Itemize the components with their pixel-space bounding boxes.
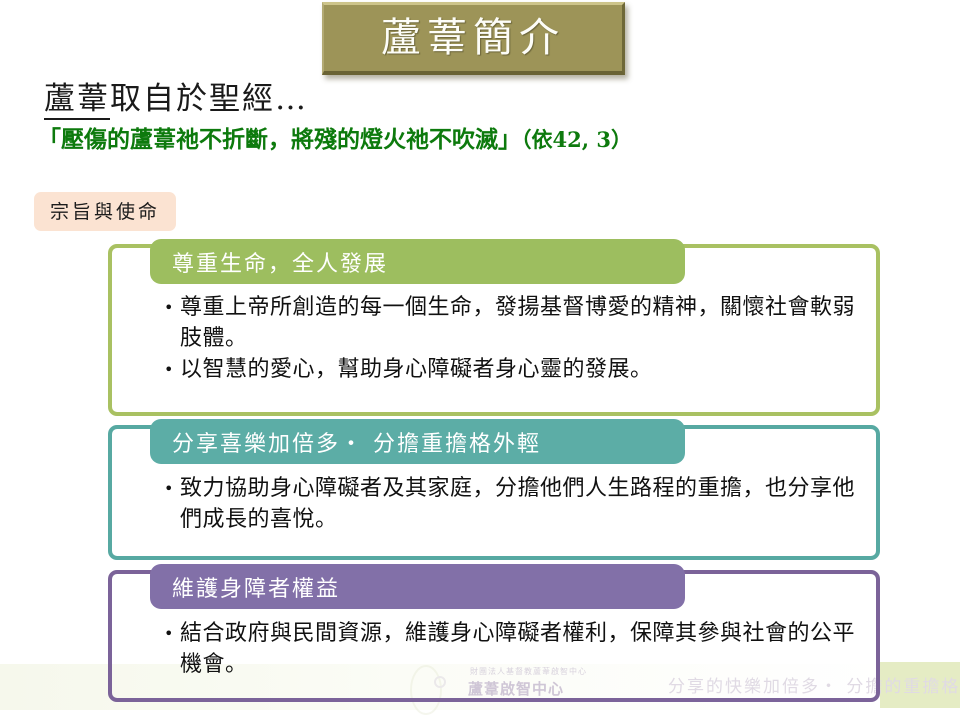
bullet-icon: •: [164, 292, 180, 323]
mission-card-3: 維護身障者權益 • 結合政府與民間資源，維護身心障礙者權利，保障其參與社會的公平…: [108, 570, 880, 702]
list-item: • 致力協助身心障礙者及其家庭，分擔他們人生路程的重擔，也分享他們成長的喜悅。: [164, 473, 864, 535]
bullet-icon: •: [164, 618, 180, 649]
scripture-heading-rest: 取自於聖經…: [110, 81, 308, 117]
mission-card-1: 尊重生命，全人發展 • 尊重上帝所創造的每一個生命，發揚基督博愛的精神，關懷社會…: [108, 244, 880, 416]
list-item: • 以智慧的愛心，幫助身心障礙者身心靈的發展。: [164, 354, 864, 385]
mission-card-2-body: • 致力協助身心障礙者及其家庭，分擔他們人生路程的重擔，也分享他們成長的喜悅。: [164, 473, 864, 535]
mission-card-2-header-label: 分享喜樂加倍多‧ 分擔重擔格外輕: [150, 426, 541, 458]
scripture-quote: 「壓傷的蘆葦祂不折斷，將殘的燈火祂不吹滅」（依42, 3）: [38, 120, 632, 154]
mission-card-2: 分享喜樂加倍多‧ 分擔重擔格外輕 • 致力協助身心障礙者及其家庭，分擔他們人生路…: [108, 425, 880, 560]
slide-canvas: 財團法人基督教蘆葦啟智中心 蘆葦啟智中心 分享的快樂加倍多‧ 分擔的重擔格外輕 …: [0, 0, 960, 720]
slide-title-plaque: 蘆葦簡介: [322, 2, 625, 75]
mission-card-1-bullet-2: 以智慧的愛心，幫助身心障礙者身心靈的發展。: [180, 354, 864, 385]
mission-card-3-body: • 結合政府與民間資源，維護身心障礙者權利，保障其參與社會的公平機會。: [164, 618, 864, 680]
bullet-icon: •: [164, 473, 180, 504]
section-label-mission: 宗旨與使命: [34, 192, 176, 231]
mission-card-3-header-label: 維護身障者權益: [150, 571, 340, 603]
mission-card-2-header: 分享喜樂加倍多‧ 分擔重擔格外輕: [150, 419, 685, 464]
mission-card-1-body: • 尊重上帝所創造的每一個生命，發揚基督博愛的精神，關懷社會軟弱肢體。 • 以智…: [164, 292, 864, 385]
scripture-reference: （依42, 3）: [521, 127, 632, 152]
mission-card-1-header-label: 尊重生命，全人發展: [150, 246, 388, 278]
mission-card-3-bullet-1: 結合政府與民間資源，維護身心障礙者權利，保障其參與社會的公平機會。: [180, 618, 864, 680]
scripture-heading: 蘆葦取自於聖經…: [44, 73, 308, 118]
page-title: 蘆葦簡介: [381, 18, 565, 58]
mission-card-1-header: 尊重生命，全人發展: [150, 239, 685, 284]
bullet-icon: •: [164, 354, 180, 385]
list-item: • 尊重上帝所創造的每一個生命，發揚基督博愛的精神，關懷社會軟弱肢體。: [164, 292, 864, 354]
scripture-quote-text: 「壓傷的蘆葦祂不折斷，將殘的燈火祂不吹滅」: [38, 126, 521, 153]
list-item: • 結合政府與民間資源，維護身心障礙者權利，保障其參與社會的公平機會。: [164, 618, 864, 680]
mission-card-3-header: 維護身障者權益: [150, 564, 685, 609]
scripture-heading-underlined: 蘆葦: [44, 81, 110, 120]
mission-card-1-bullet-1: 尊重上帝所創造的每一個生命，發揚基督博愛的精神，關懷社會軟弱肢體。: [180, 292, 864, 354]
mission-card-2-bullet-1: 致力協助身心障礙者及其家庭，分擔他們人生路程的重擔，也分享他們成長的喜悅。: [180, 473, 864, 535]
